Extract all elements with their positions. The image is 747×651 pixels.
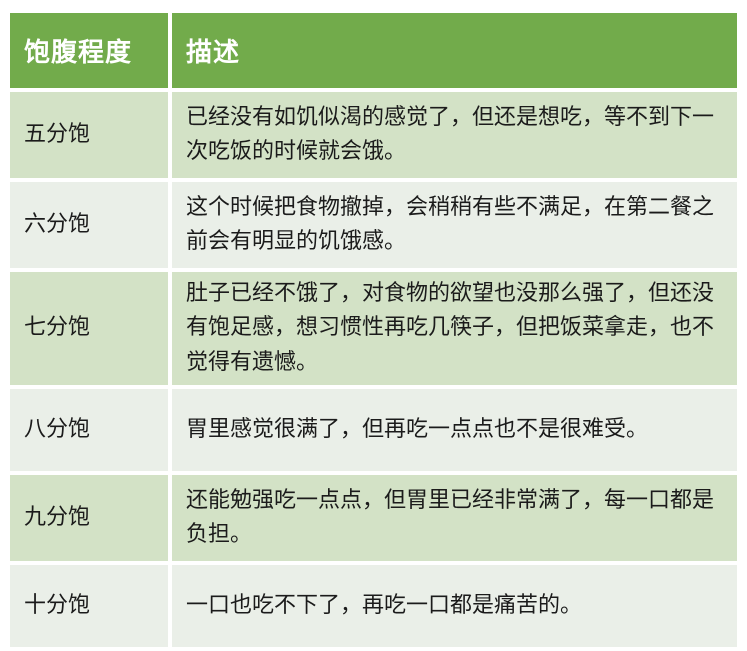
cell-description: 已经没有如饥似渴的感觉了，但还是想吃，等不到下一次吃饭的时候就会饿。 — [172, 92, 737, 178]
cell-level: 九分饱 — [10, 475, 168, 561]
table-row: 七分饱肚子已经不饿了，对食物的欲望也没那么强了，但还没有饱足感，想习惯性再吃几筷… — [10, 272, 737, 385]
table-row: 五分饱已经没有如饥似渴的感觉了，但还是想吃，等不到下一次吃饭的时候就会饿。 — [10, 92, 737, 178]
level-label: 七分饱 — [24, 311, 90, 345]
cell-description: 还能勉强吃一点点，但胃里已经非常满了，每一口都是负担。 — [172, 475, 737, 561]
column-header-level-label: 饱腹程度 — [24, 32, 132, 69]
level-label: 五分饱 — [24, 118, 90, 152]
column-header-description: 描述 — [172, 13, 737, 88]
description-text: 胃里感觉很满了，但再吃一点点也不是很难受。 — [186, 413, 648, 447]
cell-description: 肚子已经不饿了，对食物的欲望也没那么强了，但还没有饱足感，想习惯性再吃几筷子，但… — [172, 272, 737, 385]
table-body: 五分饱已经没有如饥似渴的感觉了，但还是想吃，等不到下一次吃饭的时候就会饿。六分饱… — [10, 92, 737, 647]
column-header-level: 饱腹程度 — [10, 13, 168, 88]
level-label: 十分饱 — [24, 589, 90, 623]
table-row: 九分饱还能勉强吃一点点，但胃里已经非常满了，每一口都是负担。 — [10, 475, 737, 561]
cell-level: 十分饱 — [10, 565, 168, 647]
cell-level: 七分饱 — [10, 272, 168, 385]
table-header-row: 饱腹程度 描述 — [10, 13, 737, 88]
cell-level: 五分饱 — [10, 92, 168, 178]
table-row: 八分饱胃里感觉很满了，但再吃一点点也不是很难受。 — [10, 389, 737, 471]
satiety-level-table: 饱腹程度 描述 五分饱已经没有如饥似渴的感觉了，但还是想吃，等不到下一次吃饭的时… — [10, 13, 737, 651]
level-label: 九分饱 — [24, 501, 90, 535]
description-text: 一口也吃不下了，再吃一口都是痛苦的。 — [186, 589, 582, 623]
level-label: 六分饱 — [24, 208, 90, 242]
cell-description: 胃里感觉很满了，但再吃一点点也不是很难受。 — [172, 389, 737, 471]
cell-description: 一口也吃不下了，再吃一口都是痛苦的。 — [172, 565, 737, 647]
cell-level: 六分饱 — [10, 182, 168, 268]
column-header-description-label: 描述 — [186, 32, 240, 69]
level-label: 八分饱 — [24, 413, 90, 447]
description-text: 这个时候把食物撤掉，会稍稍有些不满足，在第二餐之前会有明显的饥饿感。 — [186, 191, 723, 259]
description-text: 肚子已经不饿了，对食物的欲望也没那么强了，但还没有饱足感，想习惯性再吃几筷子，但… — [186, 277, 723, 379]
table-row: 十分饱一口也吃不下了，再吃一口都是痛苦的。 — [10, 565, 737, 647]
table-row: 六分饱这个时候把食物撤掉，会稍稍有些不满足，在第二餐之前会有明显的饥饿感。 — [10, 182, 737, 268]
cell-description: 这个时候把食物撤掉，会稍稍有些不满足，在第二餐之前会有明显的饥饿感。 — [172, 182, 737, 268]
description-text: 已经没有如饥似渴的感觉了，但还是想吃，等不到下一次吃饭的时候就会饿。 — [186, 101, 723, 169]
description-text: 还能勉强吃一点点，但胃里已经非常满了，每一口都是负担。 — [186, 484, 723, 552]
cell-level: 八分饱 — [10, 389, 168, 471]
